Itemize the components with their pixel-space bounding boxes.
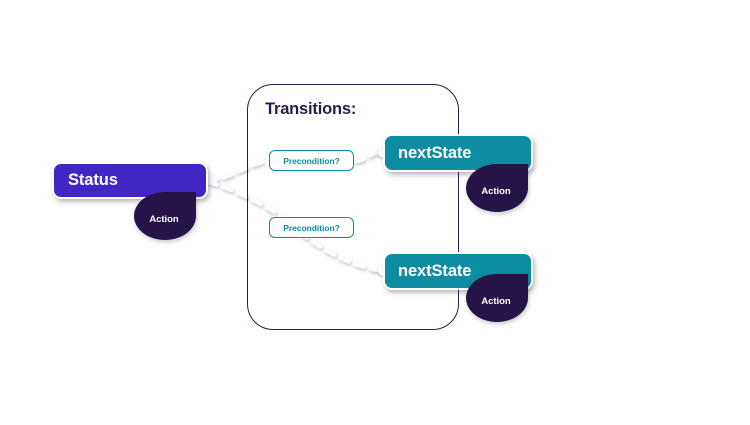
- status-action-badge[interactable]: Action: [134, 192, 196, 240]
- nextstate-2-action-badge[interactable]: Action: [466, 274, 528, 322]
- nextstate-node-1-label: nextState: [385, 144, 471, 163]
- transitions-container: [247, 84, 459, 330]
- precondition-pill-2-label: Precondition?: [283, 223, 340, 233]
- precondition-pill-1[interactable]: Precondition?: [269, 150, 354, 171]
- nextstate-2-action-badge-label: Action: [481, 296, 510, 307]
- status-action-badge-label: Action: [149, 214, 178, 225]
- nextstate-1-action-badge-label: Action: [481, 186, 510, 197]
- nextstate-1-action-badge[interactable]: Action: [466, 164, 528, 212]
- nextstate-node-2-label: nextState: [385, 262, 471, 281]
- precondition-pill-2[interactable]: Precondition?: [269, 217, 354, 238]
- diagram-canvas: Transitions: Status Action Precondition?…: [0, 0, 750, 425]
- transitions-title: Transitions:: [265, 100, 356, 119]
- status-node-label: Status: [54, 171, 118, 190]
- precondition-pill-1-label: Precondition?: [283, 156, 340, 166]
